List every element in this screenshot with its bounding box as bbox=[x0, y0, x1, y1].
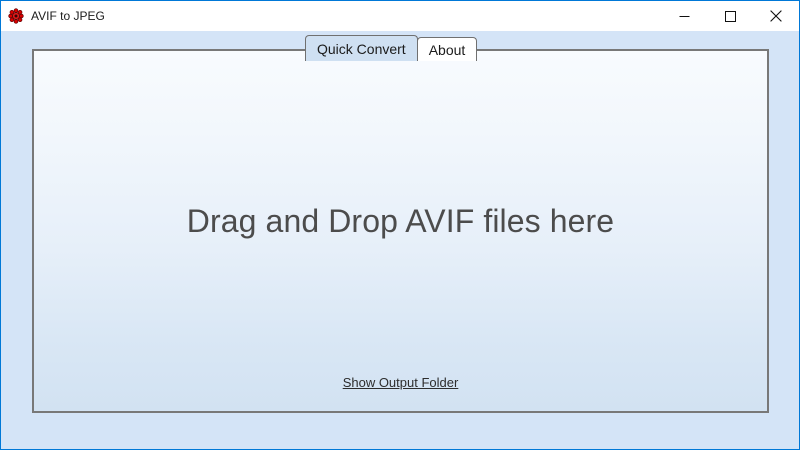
tab-quick-convert-label: Quick Convert bbox=[317, 38, 406, 60]
tab-quick-convert[interactable]: Quick Convert bbox=[305, 35, 418, 61]
close-button[interactable] bbox=[753, 1, 799, 31]
maximize-icon bbox=[725, 11, 736, 22]
drop-zone-instruction: Drag and Drop AVIF files here bbox=[34, 203, 767, 240]
maximize-button[interactable] bbox=[707, 1, 753, 31]
title-bar-left: AVIF to JPEG bbox=[1, 8, 105, 24]
minimize-button[interactable] bbox=[661, 1, 707, 31]
drop-zone-panel[interactable]: Drag and Drop AVIF files here Show Outpu… bbox=[32, 49, 769, 413]
close-icon bbox=[770, 10, 782, 22]
tab-about[interactable]: About bbox=[417, 37, 478, 61]
minimize-icon bbox=[679, 11, 690, 22]
tab-about-label: About bbox=[429, 39, 466, 61]
app-window: AVIF to JPEG bbox=[0, 0, 800, 450]
client-area: Quick Convert About Drag and Drop AVIF f… bbox=[1, 31, 799, 449]
app-flower-icon bbox=[8, 8, 24, 24]
tab-strip: Quick Convert About bbox=[305, 35, 477, 61]
show-output-folder-link[interactable]: Show Output Folder bbox=[34, 375, 767, 390]
title-bar: AVIF to JPEG bbox=[1, 1, 799, 31]
window-title: AVIF to JPEG bbox=[31, 8, 105, 24]
window-controls bbox=[661, 1, 799, 31]
